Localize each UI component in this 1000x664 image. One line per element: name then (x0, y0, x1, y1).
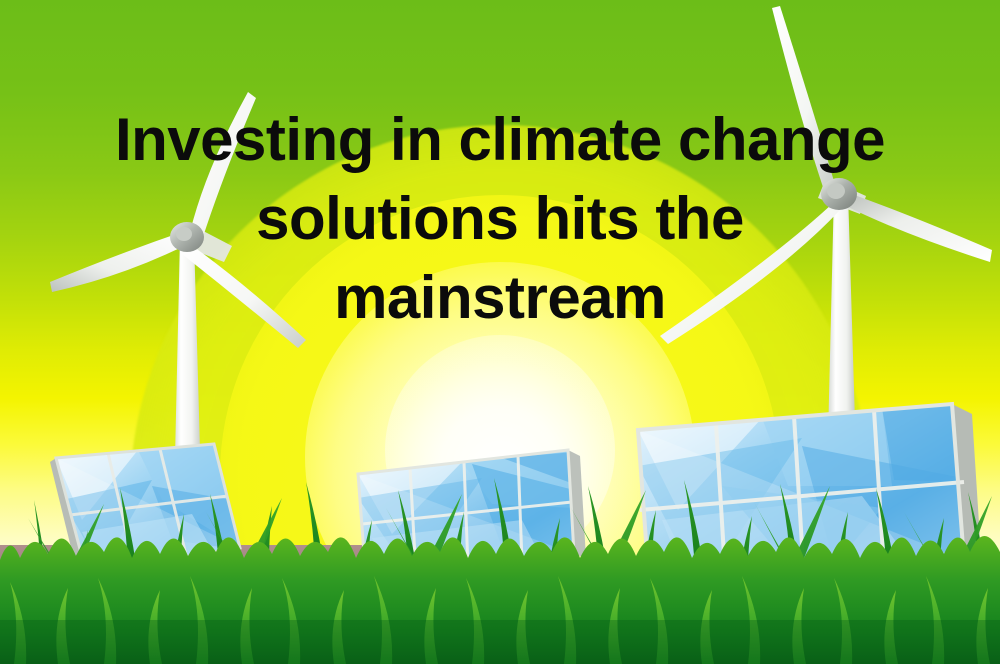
turbine-hub-cap (176, 227, 192, 241)
turbine-blade (842, 192, 992, 262)
turbine-blade (182, 244, 306, 348)
turbine-blade (50, 232, 188, 292)
banner-image: Investing in climate change solutions hi… (0, 0, 1000, 664)
turbine-hub-cap (827, 183, 845, 199)
grass-foreground (0, 434, 1000, 664)
turbine-blade (660, 204, 840, 344)
turbine-blade (772, 6, 836, 196)
grass-shadow-base (0, 620, 1000, 664)
turbine-blade (190, 92, 256, 240)
